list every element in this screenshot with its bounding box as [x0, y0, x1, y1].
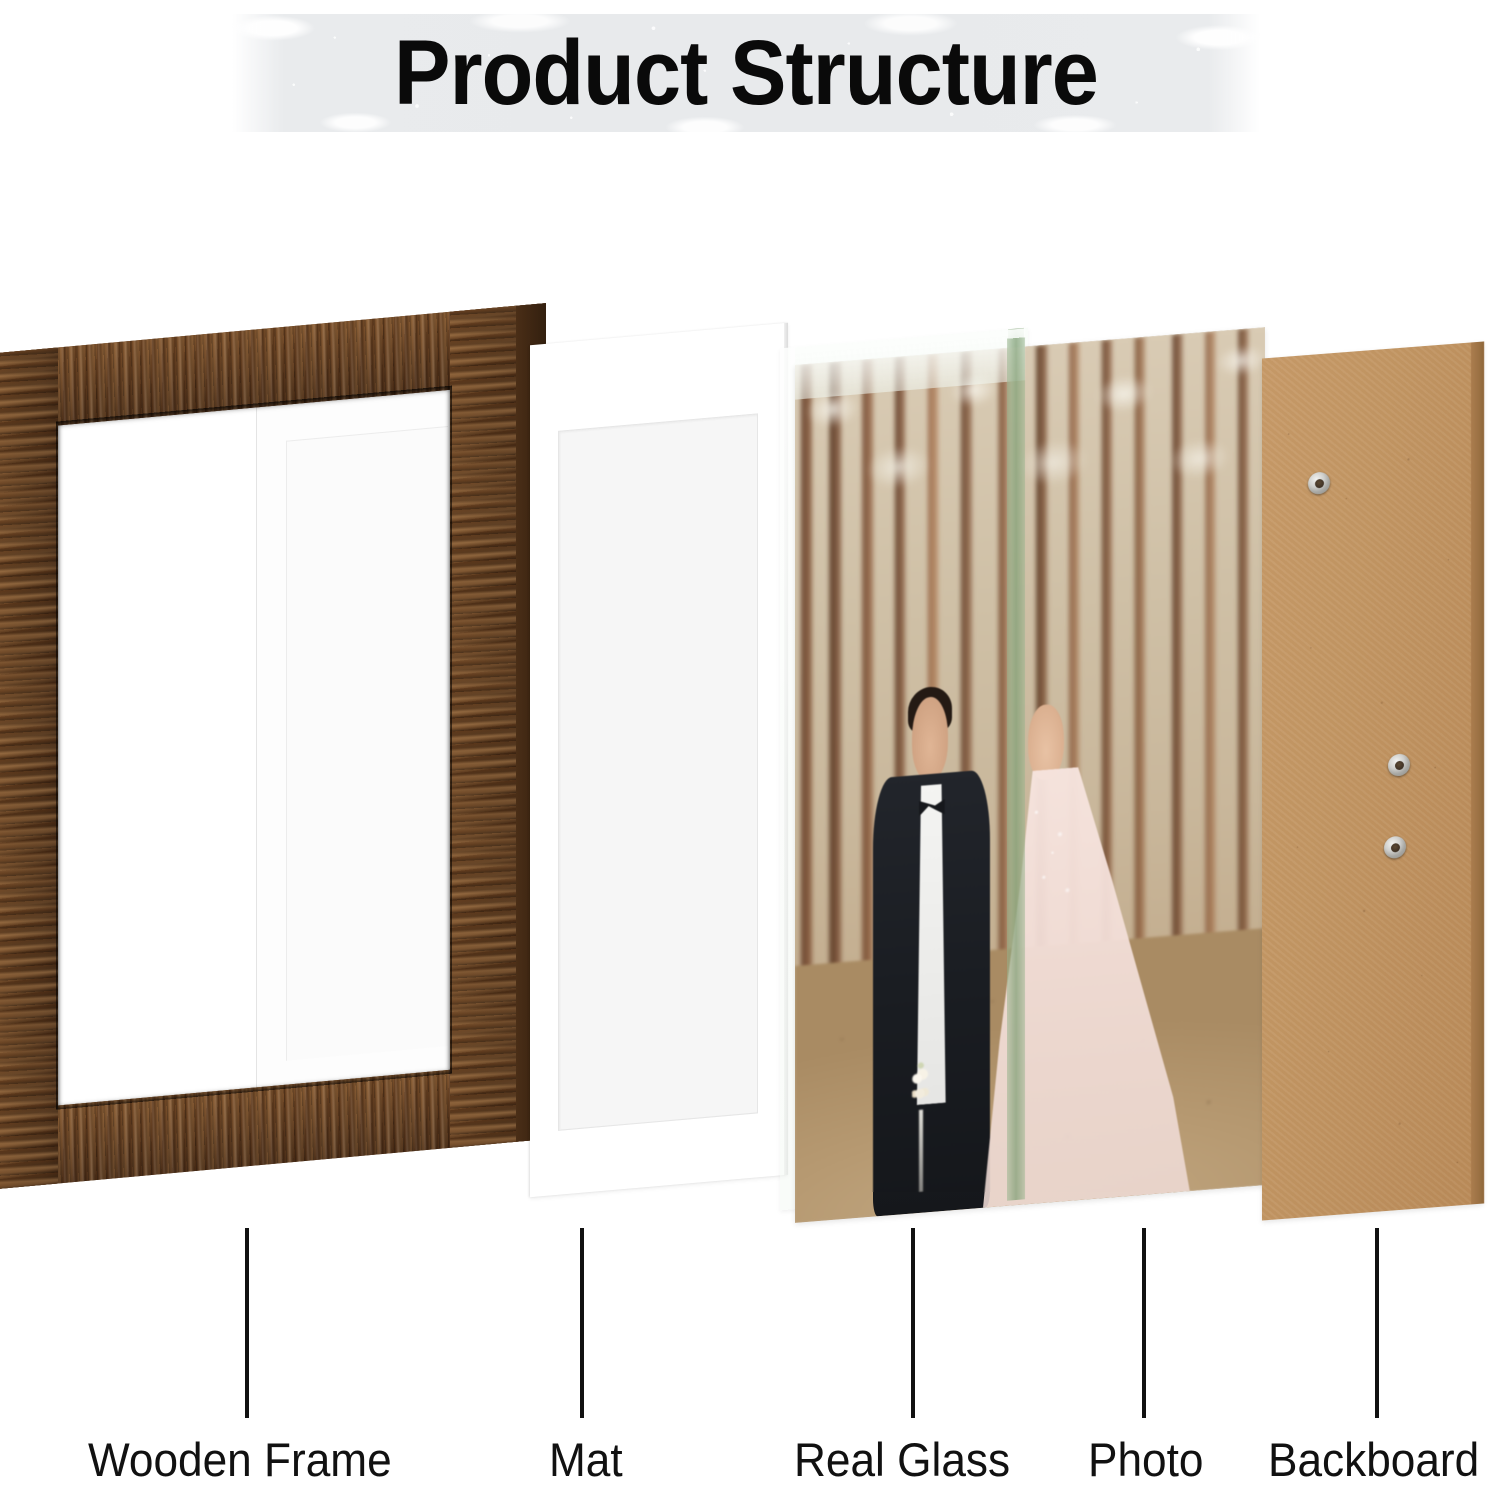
leader-line-backboard: [1375, 1228, 1379, 1418]
backboard-eyelet-grommet: [1384, 835, 1406, 859]
title-area: Product Structure: [0, 0, 1492, 150]
frame-inner-bevel-shadow: [56, 386, 452, 1110]
component-mat: [530, 323, 788, 1198]
backboard-eyelet-grommet: [1308, 471, 1330, 495]
label-photo: Photo: [1088, 1432, 1203, 1488]
page-title: Product Structure: [60, 14, 1433, 132]
label-backboard: Backboard: [1268, 1432, 1479, 1488]
label-wooden-frame: Wooden Frame: [88, 1432, 392, 1488]
exploded-view-diagram: [0, 150, 1492, 1250]
leader-line-photo: [1142, 1228, 1146, 1418]
leader-line-real-glass: [911, 1228, 915, 1418]
leader-line-mat: [580, 1228, 584, 1418]
label-mat: Mat: [549, 1432, 623, 1488]
glass-edge-over-photo: [1007, 337, 1025, 1201]
component-wooden-frame: [0, 303, 546, 1189]
backboard-eyelet-grommet: [1388, 753, 1410, 777]
backboard-side-edge: [1471, 341, 1484, 1204]
label-real-glass: Real Glass: [794, 1432, 1010, 1488]
photo-scene-wedding-couple-in-forest: [795, 327, 1265, 1223]
product-structure-infographic: Product Structure: [0, 0, 1492, 1500]
component-backboard: [1262, 341, 1484, 1220]
photo-soft-focus-overlay: [795, 327, 1265, 1223]
component-photo: [795, 327, 1265, 1223]
leader-line-wooden-frame: [245, 1228, 249, 1418]
component-labels: Wooden Frame Mat Real Glass Photo Backbo…: [0, 1432, 1492, 1500]
frame-left-rail: [0, 347, 58, 1188]
mat-window-opening: [558, 413, 758, 1130]
